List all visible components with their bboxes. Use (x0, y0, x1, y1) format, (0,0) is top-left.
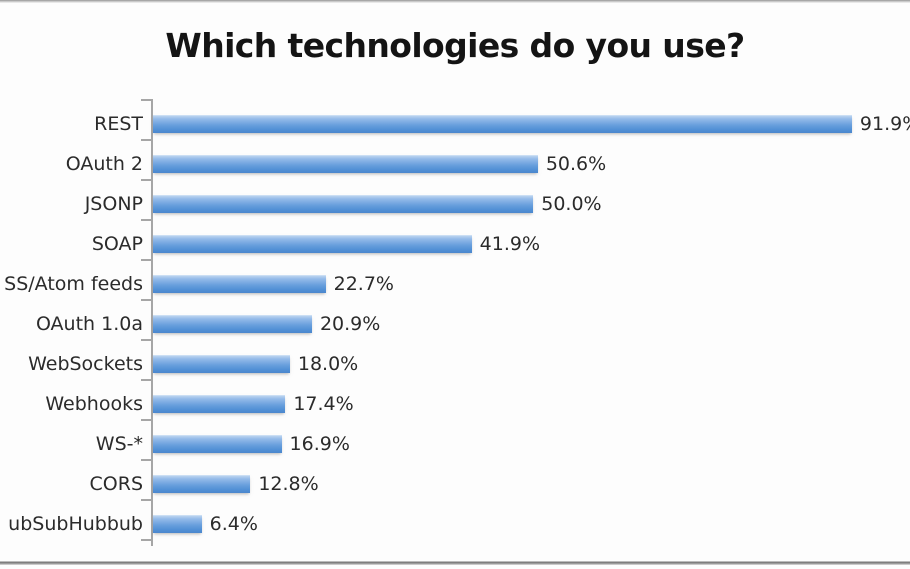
category-label: REST (0, 104, 143, 144)
bar-value-label: 22.7% (334, 264, 394, 304)
chart-row: CORS12.8% (0, 464, 910, 504)
category-label: OAuth 2 (0, 144, 143, 184)
chart-row: ubSubHubbub6.4% (0, 504, 910, 544)
chart-row: SOAP41.9% (0, 224, 910, 264)
chart-row: OAuth 1.0a20.9% (0, 304, 910, 344)
chart-row: Webhooks17.4% (0, 384, 910, 424)
chart-row: REST91.9% (0, 104, 910, 144)
bar (153, 395, 285, 413)
axis-tick (141, 379, 151, 381)
chart-row: OAuth 250.6% (0, 144, 910, 184)
bar-value-label: 50.6% (546, 144, 606, 184)
bar (153, 195, 533, 213)
axis-tick (141, 539, 151, 541)
bar-value-label: 6.4% (210, 504, 258, 544)
category-label: JSONP (0, 184, 143, 224)
axis-tick (141, 499, 151, 501)
chart-container: Which technologies do you use? REST91.9%… (0, 0, 910, 569)
category-label: Webhooks (0, 384, 143, 424)
category-label: WebSockets (0, 344, 143, 384)
axis-tick (141, 259, 151, 261)
bar (153, 355, 290, 373)
axis-tick (141, 459, 151, 461)
bar-value-label: 50.0% (541, 184, 601, 224)
bar (153, 235, 472, 253)
chart-row: SS/Atom feeds22.7% (0, 264, 910, 304)
bar-value-label: 12.8% (258, 464, 318, 504)
bar-value-label: 91.9% (860, 104, 910, 144)
axis-tick (141, 219, 151, 221)
bar-value-label: 16.9% (290, 424, 350, 464)
category-label: CORS (0, 464, 143, 504)
bar (153, 115, 852, 133)
bar-value-label: 41.9% (480, 224, 540, 264)
axis-tick (141, 339, 151, 341)
chart-row: WS-*16.9% (0, 424, 910, 464)
bar-value-label: 17.4% (293, 384, 353, 424)
bar-value-label: 20.9% (320, 304, 380, 344)
axis-tick (141, 419, 151, 421)
category-label: ubSubHubbub (0, 504, 143, 544)
category-label: WS-* (0, 424, 143, 464)
bar (153, 515, 202, 533)
bar (153, 315, 312, 333)
bar (153, 435, 282, 453)
category-label: SS/Atom feeds (0, 264, 143, 304)
plot-area: REST91.9%OAuth 250.6%JSONP50.0%SOAP41.9%… (0, 0, 910, 569)
category-label: OAuth 1.0a (0, 304, 143, 344)
axis-tick (141, 299, 151, 301)
axis-tick (141, 179, 151, 181)
bar (153, 475, 250, 493)
bar (153, 275, 326, 293)
chart-row: WebSockets18.0% (0, 344, 910, 384)
axis-tick (141, 99, 151, 101)
bar-value-label: 18.0% (298, 344, 358, 384)
category-label: SOAP (0, 224, 143, 264)
chart-row: JSONP50.0% (0, 184, 910, 224)
axis-tick (141, 139, 151, 141)
bar (153, 155, 538, 173)
